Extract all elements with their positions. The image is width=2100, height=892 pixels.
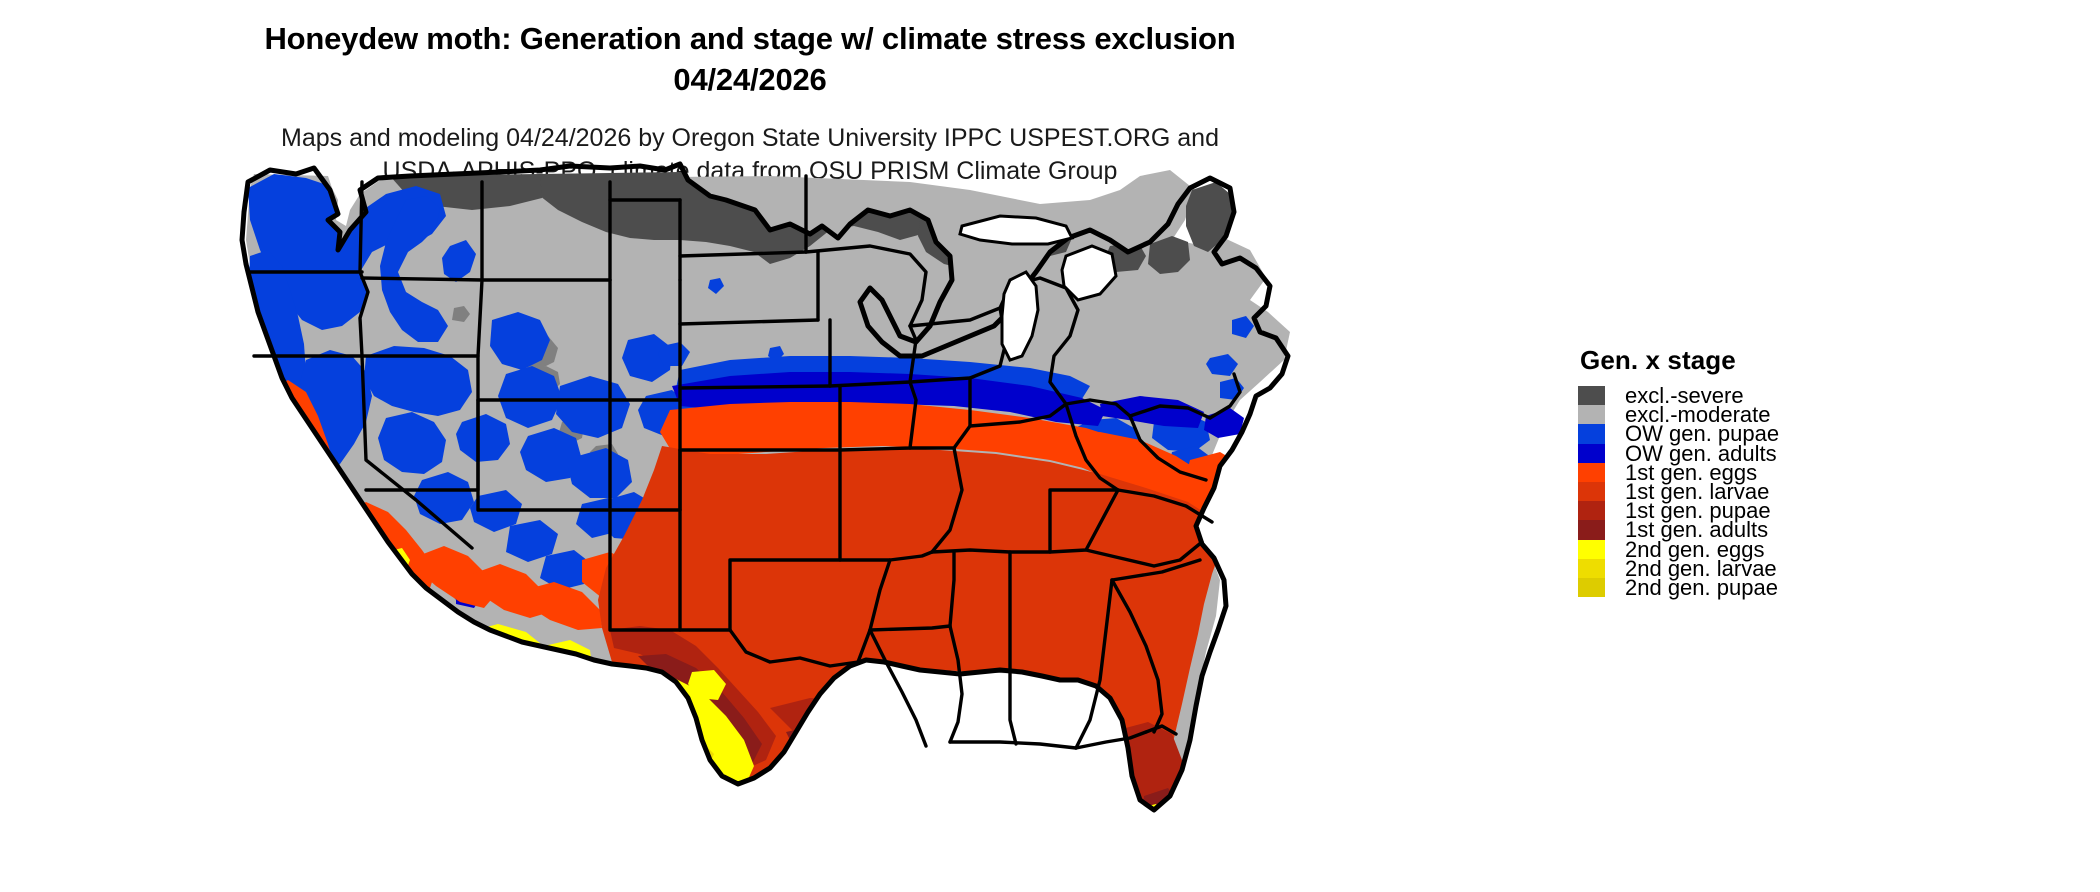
legend-color-swatch bbox=[1578, 520, 1605, 539]
page-subtitle-line-1: Maps and modeling 04/24/2026 by Oregon S… bbox=[0, 122, 1500, 155]
state-border bbox=[680, 386, 830, 388]
second-eggs-region bbox=[1138, 814, 1178, 880]
us-map-svg bbox=[210, 160, 1540, 880]
map-page: Honeydew moth: Generation and stage w/ c… bbox=[0, 0, 2100, 892]
second-pupae-speck bbox=[1146, 854, 1174, 880]
legend-color-swatch bbox=[1578, 482, 1605, 501]
page-title-line-2: 04/24/2026 bbox=[0, 59, 1500, 100]
legend-items: excl.-severeexcl.-moderateOW gen. pupaeO… bbox=[1578, 386, 1958, 597]
adults-region bbox=[786, 724, 900, 792]
legend-color-swatch bbox=[1578, 444, 1605, 463]
legend-color-swatch bbox=[1578, 405, 1605, 424]
us-choropleth-map bbox=[210, 160, 1540, 880]
page-title-line-1: Honeydew moth: Generation and stage w/ c… bbox=[0, 18, 1500, 59]
page-title: Honeydew moth: Generation and stage w/ c… bbox=[0, 18, 1500, 100]
map-legend: Gen. x stage excl.-severeexcl.-moderateO… bbox=[1578, 345, 1958, 597]
legend-color-swatch bbox=[1578, 559, 1605, 578]
legend-color-swatch bbox=[1578, 578, 1605, 597]
pupae-region bbox=[926, 728, 1044, 786]
adults-region bbox=[900, 756, 946, 794]
legend-title: Gen. x stage bbox=[1580, 345, 1958, 376]
legend-row: 2nd gen. pupae bbox=[1578, 578, 1958, 597]
legend-color-swatch bbox=[1578, 501, 1605, 520]
ow-pupae-region bbox=[498, 366, 562, 428]
state-border bbox=[950, 742, 1076, 748]
legend-color-swatch bbox=[1578, 540, 1605, 559]
legend-label: 2nd gen. pupae bbox=[1625, 578, 1778, 597]
legend-color-swatch bbox=[1578, 463, 1605, 482]
legend-color-swatch bbox=[1578, 386, 1605, 405]
ow-adults-speck bbox=[290, 440, 318, 464]
legend-color-swatch bbox=[1578, 424, 1605, 443]
adults-region bbox=[1142, 788, 1182, 836]
